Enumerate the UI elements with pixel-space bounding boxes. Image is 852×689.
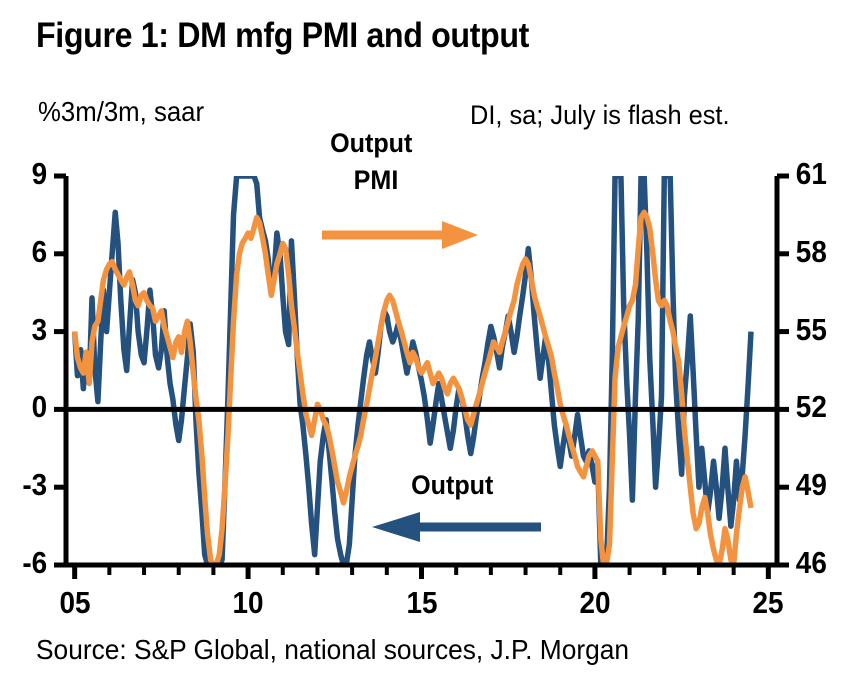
y-axis-right-tick-label: 55 — [796, 312, 846, 348]
x-axis-tick-label: 25 — [743, 585, 793, 621]
y-axis-right-tick-label: 58 — [796, 234, 846, 270]
y-axis-right-tick-label: 52 — [796, 389, 846, 425]
y-axis-right-tick-label: 61 — [796, 156, 846, 192]
x-axis-tick-label: 15 — [396, 585, 446, 621]
arrow-output — [372, 512, 541, 542]
source-note: Source: S&P Global, national sources, J.… — [36, 634, 629, 666]
y-axis-left-tick-label: -6 — [0, 545, 47, 581]
y-axis-left-tick-label: 9 — [0, 156, 47, 192]
x-axis-tick-label: 10 — [223, 585, 273, 621]
y-axis-right-tick-label: 49 — [796, 467, 846, 503]
figure-container: Figure 1: DM mfg PMI and output %3m/3m, … — [0, 0, 852, 689]
y-axis-left-tick-label: -3 — [0, 467, 47, 503]
arrow-output-pmi — [322, 221, 478, 249]
y-axis-right-tick-label: 46 — [796, 545, 846, 581]
x-axis-tick-label: 20 — [570, 585, 620, 621]
x-axis-tick-label: 05 — [49, 585, 99, 621]
y-axis-left-tick-label: 3 — [0, 312, 47, 348]
y-axis-left-tick-label: 6 — [0, 234, 47, 270]
y-axis-left-tick-label: 0 — [0, 389, 47, 425]
